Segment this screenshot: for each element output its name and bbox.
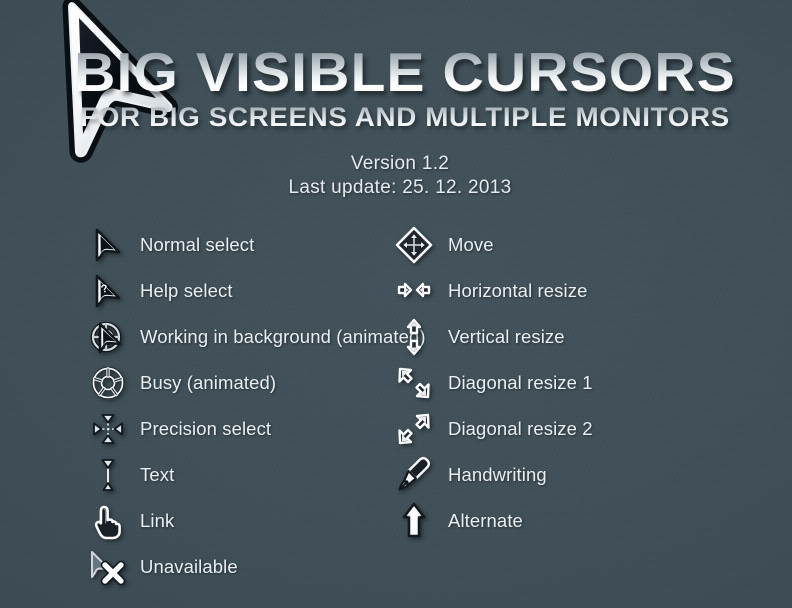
cursor-label: Vertical resize [436,326,565,348]
cursor-label: Busy (animated) [130,372,276,394]
cursor-list: Normal select ? Help select [0,222,792,602]
last-update-text: Last update: 25. 12. 2013 [8,176,792,200]
cursor-label: Help select [130,280,233,302]
pointing-hand-cursor-icon [86,499,130,543]
up-arrow-cursor-icon [392,499,436,543]
arrow-spinner-cursor-icon [86,315,130,359]
arrow-cursor-icon [86,223,130,267]
cursor-row: Vertical resize [392,314,792,360]
pen-nib-cursor-icon [392,453,436,497]
page-subtitle: FOR BIG SCREENS AND MULTIPLE MONITORS [6,102,792,132]
cursor-label: Diagonal resize 1 [436,372,593,394]
cursor-row: Horizontal resize [392,268,792,314]
cursor-label: Diagonal resize 2 [436,418,593,440]
resize-horizontal-cursor-icon [392,269,436,313]
cursor-label: Alternate [436,510,523,532]
cursor-label: Handwriting [436,464,547,486]
cursor-row: Working in background (animated) [86,314,380,360]
cursor-label: Unavailable [130,556,238,578]
cursor-label: Horizontal resize [436,280,587,302]
cursor-column-left: Normal select ? Help select [0,222,380,602]
page-title: BIG VISIBLE CURSORS [3,44,792,100]
cursor-row: ? Help select [86,268,380,314]
cursor-row: Handwriting [392,452,792,498]
cursor-row: Diagonal resize 1 [392,360,792,406]
cursor-row: Text [86,452,380,498]
cursor-row: Precision select [86,406,380,452]
cursor-label: Link [130,510,174,532]
spinner-ring-cursor-icon [86,361,130,405]
resize-diagonal-nwse-cursor-icon [392,361,436,405]
cursor-column-right: Move Horizontal resize [380,222,792,602]
arrow-question-cursor-icon: ? [86,269,130,313]
cursor-label: Text [130,464,174,486]
version-text: Version 1.2 [8,152,792,176]
cursor-row: Alternate [392,498,792,544]
resize-diagonal-nesw-cursor-icon [392,407,436,451]
cursor-row: Move [392,222,792,268]
cursor-row: Unavailable [86,544,380,590]
crosshair-cursor-icon [86,407,130,451]
cursor-label: Move [436,234,494,256]
move-four-arrows-cursor-icon [392,223,436,267]
cursor-row: Normal select [86,222,380,268]
version-block: Version 1.2 Last update: 25. 12. 2013 [0,152,792,200]
cursor-row: Diagonal resize 2 [392,406,792,452]
arrow-cross-cursor-icon [86,545,130,589]
title-block: BIG VISIBLE CURSORS FOR BIG SCREENS AND … [0,44,792,132]
cursor-row: Link [86,498,380,544]
cursor-label: Normal select [130,234,254,256]
cursor-row: Busy (animated) [86,360,380,406]
cursor-label: Precision select [130,418,271,440]
text-beam-cursor-icon [86,453,130,497]
resize-vertical-cursor-icon [392,315,436,359]
page-header: BIG VISIBLE CURSORS FOR BIG SCREENS AND … [0,0,792,210]
